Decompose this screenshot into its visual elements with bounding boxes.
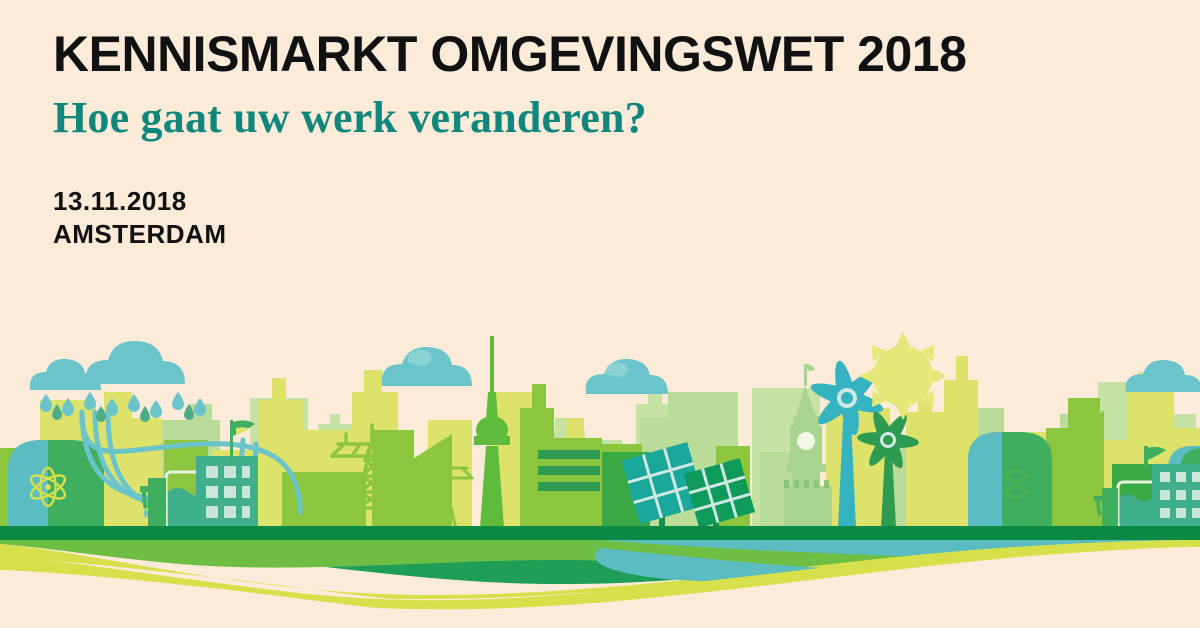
striped-building	[536, 438, 602, 528]
sun	[859, 332, 947, 420]
windowed-building	[196, 456, 258, 528]
page-subtitle: Hoe gaat uw werk veranderen?	[53, 95, 966, 141]
poster-text-block: KENNISMARKT OMGEVINGSWET 2018 Hoe gaat u…	[53, 28, 966, 251]
event-date: 13.11.2018	[53, 185, 966, 218]
event-city: AMSTERDAM	[53, 218, 966, 251]
event-meta: 13.11.2018 AMSTERDAM	[53, 185, 966, 252]
page-title: KENNISMARKT OMGEVINGSWET 2018	[53, 28, 966, 81]
poster-canvas: KENNISMARKT OMGEVINGSWET 2018 Hoe gaat u…	[0, 0, 1200, 628]
ground-band	[0, 526, 1200, 540]
dome-building-center	[968, 432, 1052, 528]
